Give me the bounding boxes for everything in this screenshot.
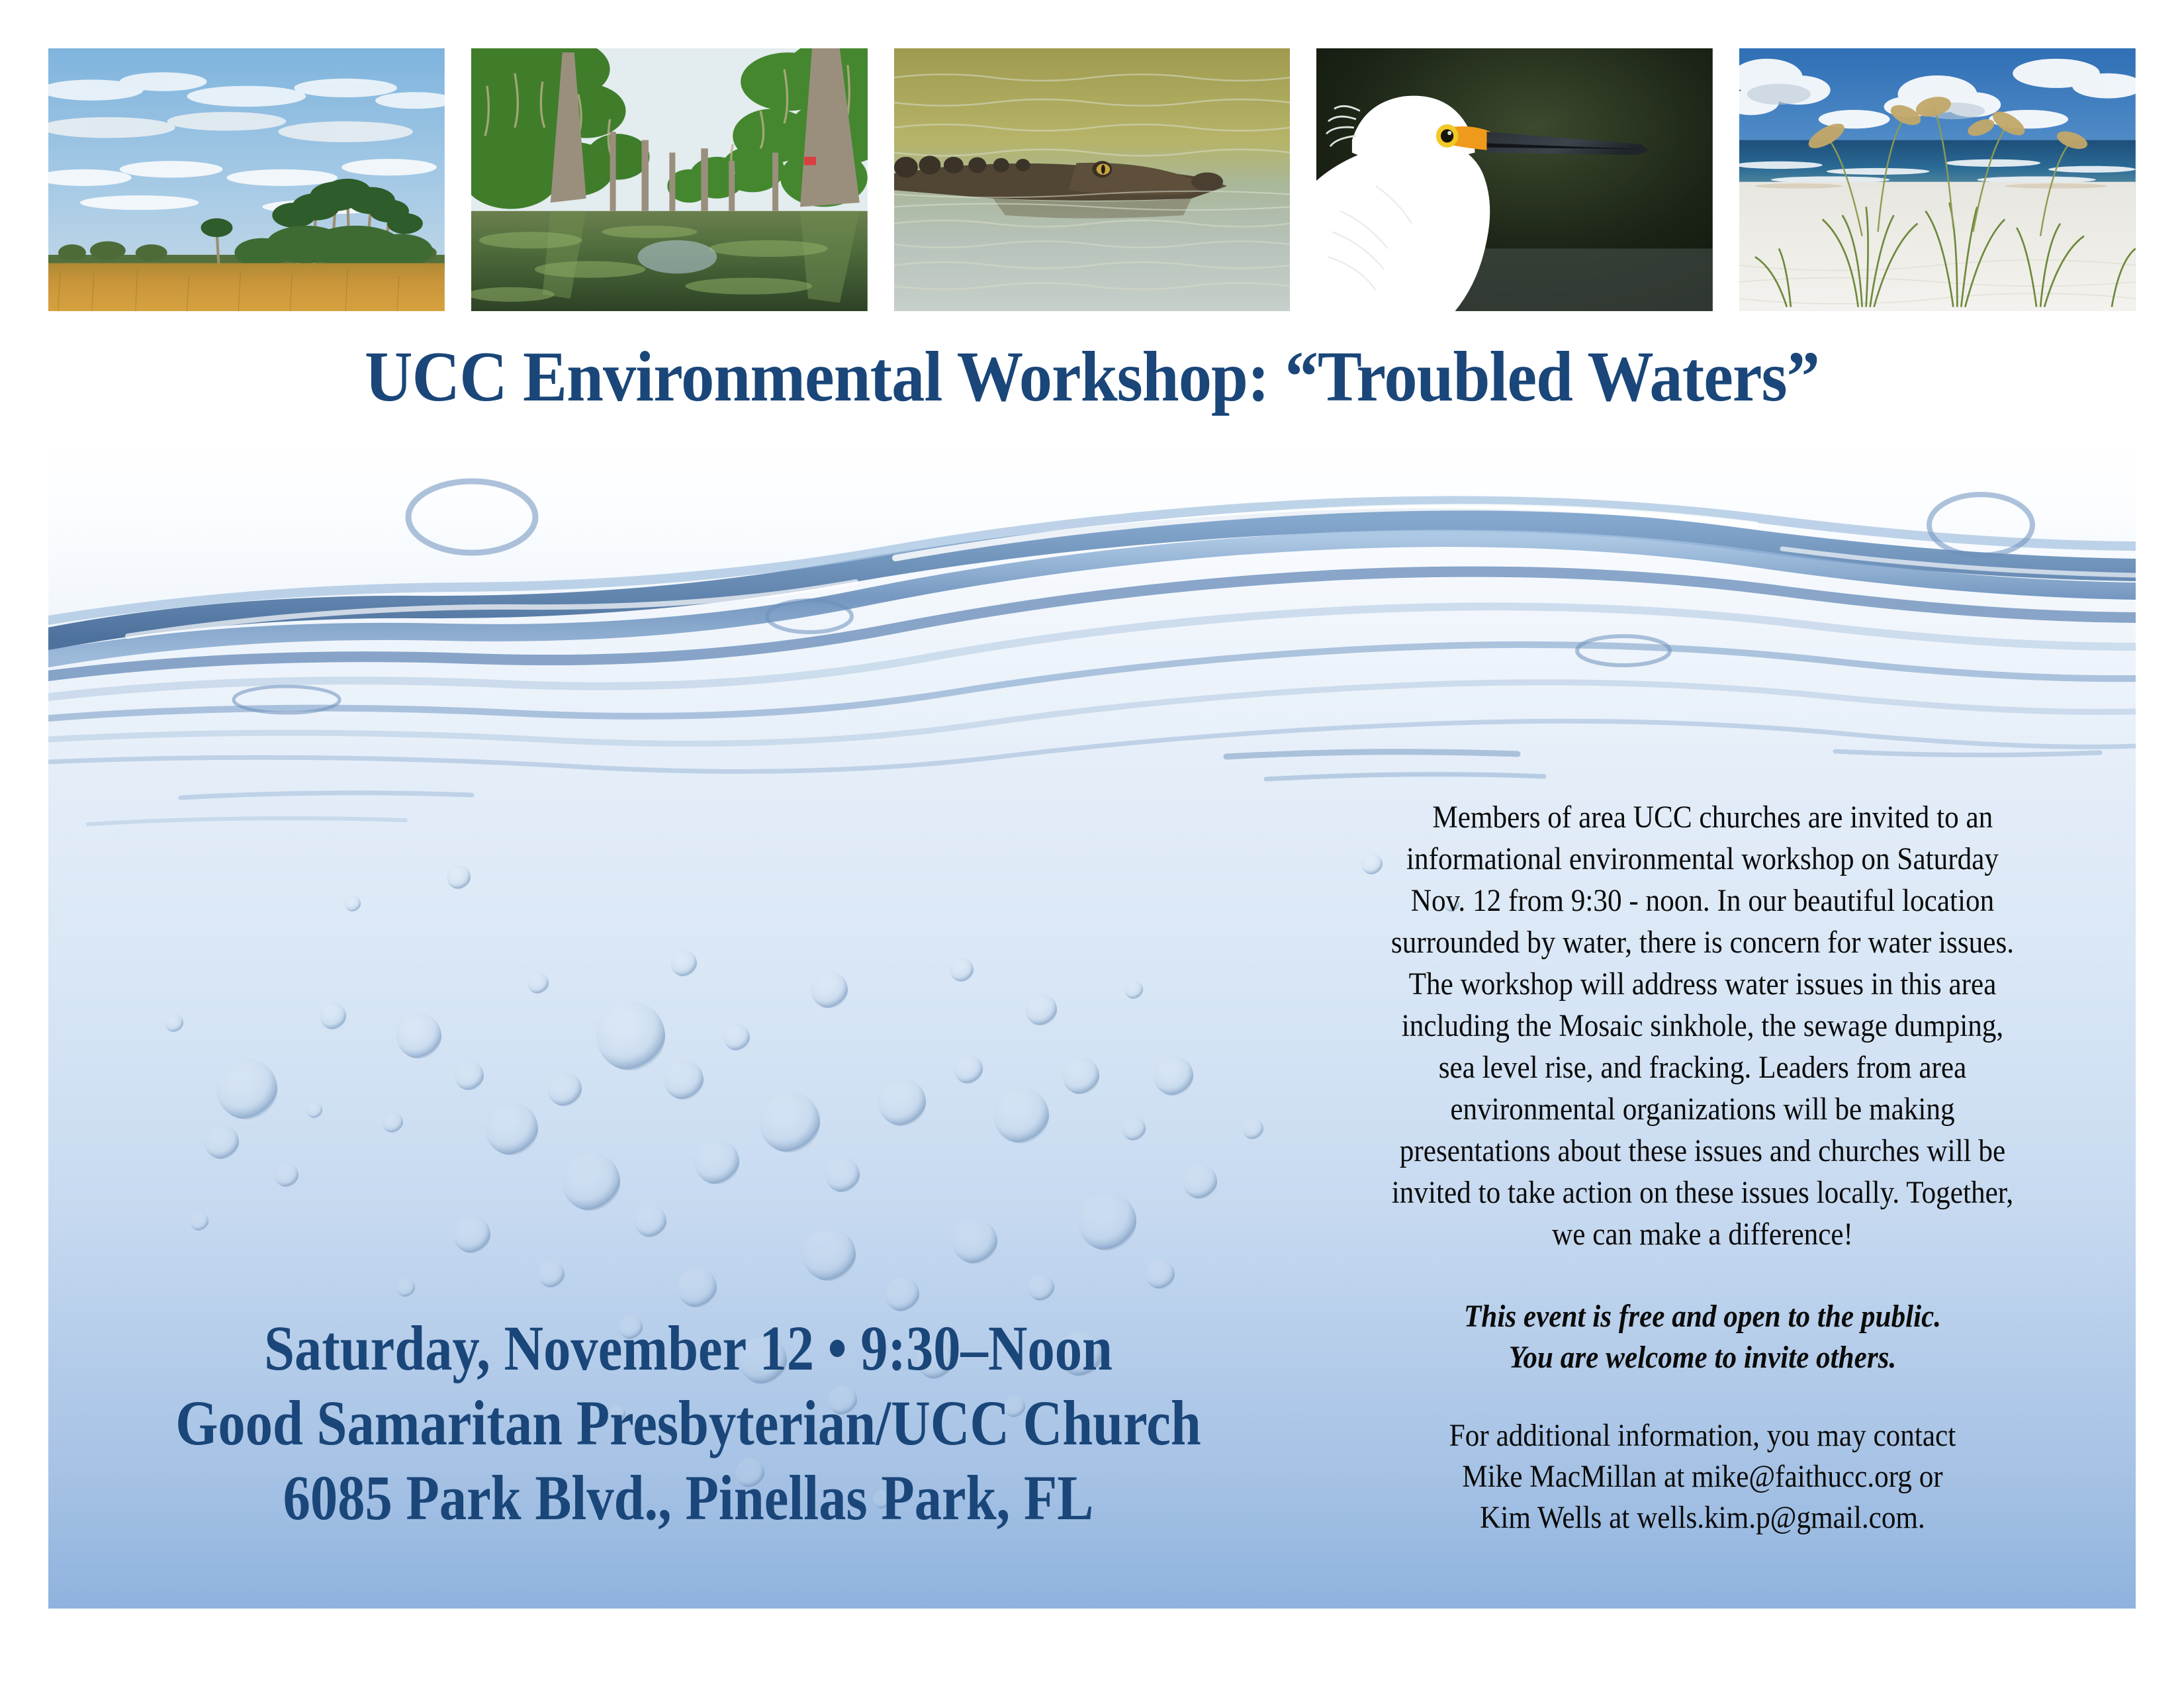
- page-title: UCC Environmental Workshop: “Troubled Wa…: [77, 336, 2108, 418]
- free-admission-line-2: You are welcome to invite others.: [1383, 1337, 2023, 1378]
- info-column: Members of area UCC churches are invited…: [1347, 765, 2058, 1538]
- free-admission-line-1: This event is free and open to the publi…: [1383, 1296, 2023, 1337]
- contact-line-3[interactable]: Kim Wells at wells.kim.p@gmail.com.: [1383, 1497, 2023, 1538]
- event-datetime: Saturday, November 12 • 9:30–Noon: [148, 1311, 1229, 1385]
- contact-block: For additional information, you may cont…: [1383, 1415, 2023, 1538]
- free-admission-note: This event is free and open to the publi…: [1383, 1296, 2023, 1378]
- event-address: 6085 Park Blvd., Pinellas Park, FL: [148, 1460, 1229, 1535]
- photo-strip: [48, 48, 2136, 311]
- contact-line-2[interactable]: Mike MacMillan at mike@faithucc.org or: [1383, 1456, 2023, 1497]
- event-venue: Good Samaritan Presbyterian/UCC Church: [148, 1385, 1229, 1460]
- contact-line-1: For additional information, you may cont…: [1383, 1415, 2023, 1456]
- body-paragraph: Members of area UCC churches are invited…: [1383, 796, 2023, 1255]
- event-details: Saturday, November 12 • 9:30–Noon Good S…: [60, 1311, 1317, 1535]
- photo-american-alligator-in-water: [894, 48, 1291, 311]
- photo-snowy-egret-portrait: [1316, 48, 1713, 311]
- photo-everglades-prairie-palms: [48, 48, 445, 311]
- photo-cypress-swamp-spanish-moss: [471, 48, 868, 311]
- photo-gulf-beach-sea-oats: [1739, 48, 2136, 311]
